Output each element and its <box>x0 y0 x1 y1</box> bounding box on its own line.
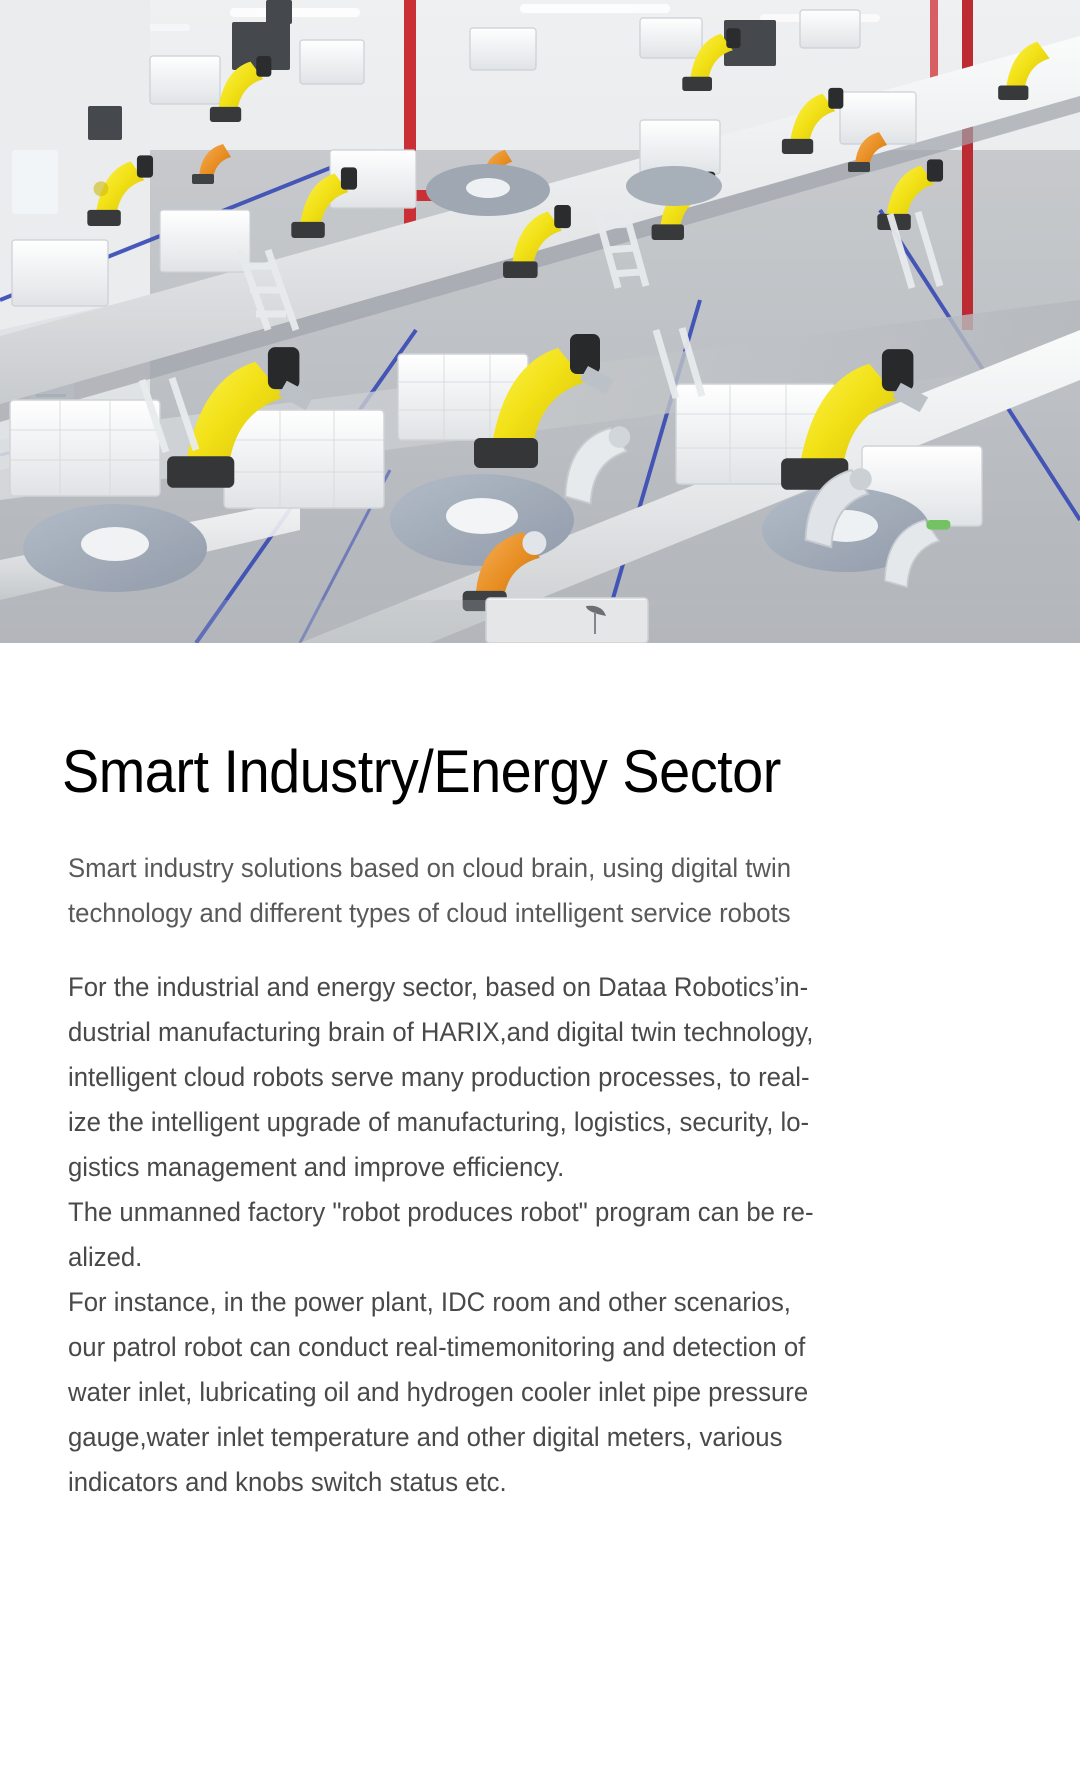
article-content: Smart Industry/Energy Sector Smart indus… <box>0 643 1080 1505</box>
body-line: ize the intelligent upgrade of manufactu… <box>68 1100 957 1145</box>
body-line: gauge,water inlet temperature and other … <box>68 1415 957 1460</box>
body-line: For the industrial and energy sector, ba… <box>68 965 957 1010</box>
body-line: indicators and knobs switch status etc. <box>68 1460 957 1505</box>
paragraph-unmanned-factory: The unmanned factory "robot produces rob… <box>68 1190 957 1280</box>
hero-image-smart-factory <box>0 0 1080 643</box>
paragraph-industrial-energy: For the industrial and energy sector, ba… <box>68 965 957 1190</box>
intro-line: Smart industry solutions based on cloud … <box>68 846 935 891</box>
body-line: water inlet, lubricating oil and hydroge… <box>68 1370 957 1415</box>
body-line: gistics management and improve efficienc… <box>68 1145 957 1190</box>
article-body: For the industrial and energy sector, ba… <box>68 965 957 1505</box>
intro-line: technology and different types of cloud … <box>68 891 935 936</box>
body-line: For instance, in the power plant, IDC ro… <box>68 1280 957 1325</box>
article-page: Smart Industry/Energy Sector Smart indus… <box>0 0 1080 1785</box>
body-line: alized. <box>68 1235 957 1280</box>
body-line: The unmanned factory "robot produces rob… <box>68 1190 957 1235</box>
article-intro: Smart industry solutions based on cloud … <box>68 846 935 936</box>
body-line: our patrol robot can conduct real-timemo… <box>68 1325 957 1370</box>
factory-scene-illustration <box>0 0 1080 643</box>
body-line: dustrial manufacturing brain of HARIX,an… <box>68 1010 957 1055</box>
page-title: Smart Industry/Energy Sector <box>62 742 972 802</box>
paragraph-power-plant: For instance, in the power plant, IDC ro… <box>68 1280 957 1505</box>
body-line: intelligent cloud robots serve many prod… <box>68 1055 957 1100</box>
